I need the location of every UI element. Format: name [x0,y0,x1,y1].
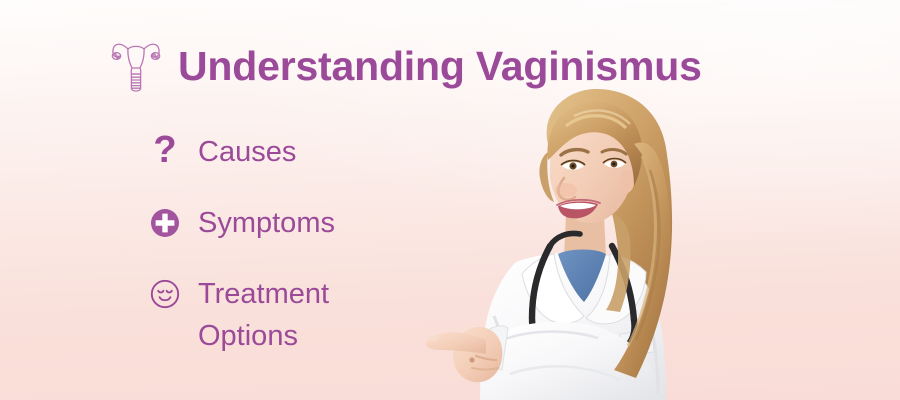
list-item-label: Treatment Options [198,274,373,356]
uterus-icon [108,34,164,99]
list-item-label: Causes [198,132,296,173]
banner-header: Understanding Vaginismus [108,34,702,99]
female-doctor-pointing-photo [398,86,722,400]
feature-list: ? Causes Symptoms Treat [148,132,373,357]
list-item-label: Symptoms [198,203,335,244]
list-item-treatment-options[interactable]: Treatment Options [148,274,373,356]
smiley-face-icon [148,277,182,311]
question-mark-icon: ? [148,135,182,169]
medical-cross-circle-icon [148,206,182,240]
list-item-causes[interactable]: ? Causes [148,132,373,173]
list-item-symptoms[interactable]: Symptoms [148,203,373,244]
page-title: Understanding Vaginismus [178,46,702,87]
banner: Understanding Vaginismus ? Causes Sympto… [0,0,900,400]
